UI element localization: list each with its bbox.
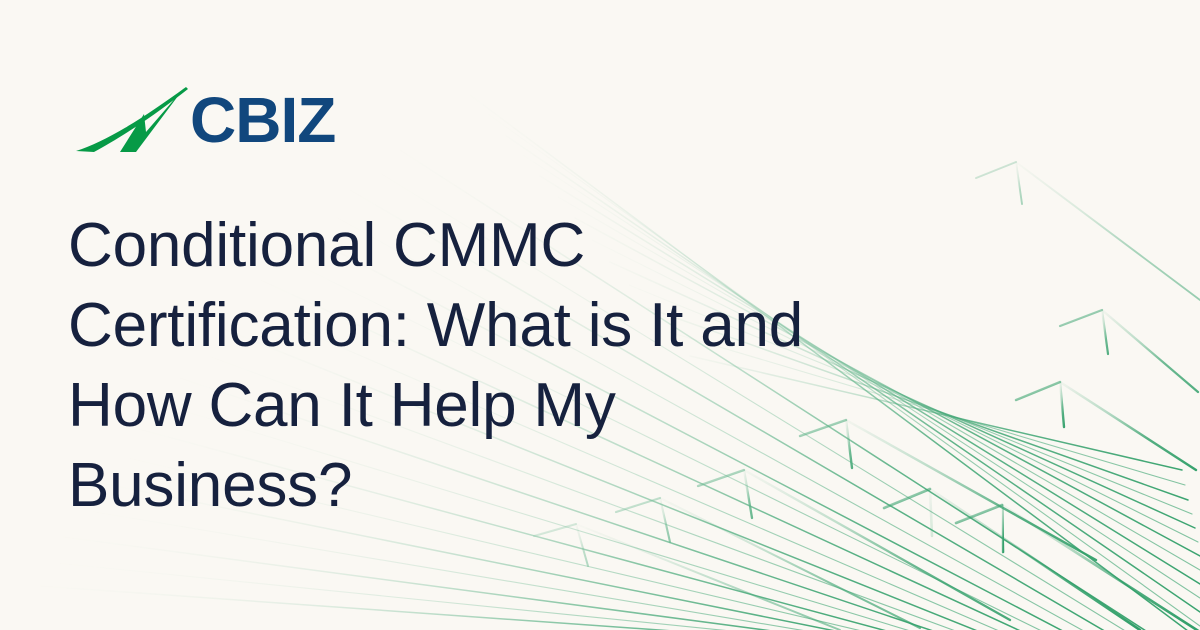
cbiz-logo[interactable]: CBIZ	[76, 84, 380, 154]
cbiz-wordmark: CBIZ	[190, 86, 380, 154]
headline-line-2: Certification: What is It and	[68, 286, 968, 366]
headline-line-3: How Can It Help My	[68, 366, 968, 446]
cbiz-swoosh-arrow-icon	[76, 86, 188, 154]
share-card: CBIZ Conditional CMMC Certification: Wha…	[0, 0, 1200, 630]
headline-line-1: Conditional CMMC	[68, 206, 968, 286]
headline-line-4: Business?	[68, 446, 968, 526]
cbiz-wordmark-text: CBIZ	[190, 86, 335, 154]
page-title: Conditional CMMC Certification: What is …	[68, 206, 968, 526]
